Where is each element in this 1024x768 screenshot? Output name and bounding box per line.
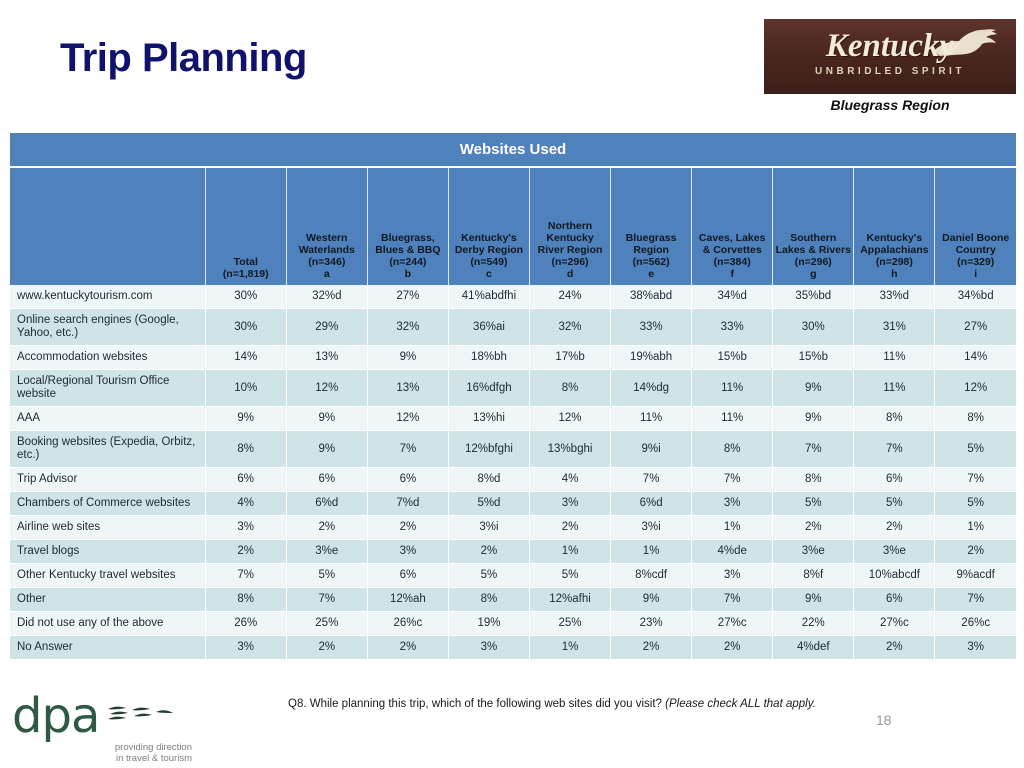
table-cell: 2% [205,540,286,564]
table-cell: 35%bd [773,285,854,309]
table-cell: 26% [205,612,286,636]
column-header-sample-size: (n=1,819) [208,268,284,280]
page-title: Trip Planning [60,36,307,81]
column-header-b: Bluegrass, Blues & BBQ(n=244)b [367,168,448,285]
table-cell: 32% [367,309,448,346]
table-row: Chambers of Commerce websites4%6%d7%d5%d… [10,492,1016,516]
table-cell: 4% [205,492,286,516]
table-cell: 30% [205,285,286,309]
table-cell: 7% [692,588,773,612]
column-header-name: Kentucky's Appalachians [856,232,932,256]
table-cell: 9% [286,407,367,431]
table-row: Airline web sites3%2%2%3%i2%3%i1%2%2%1% [10,516,1016,540]
table-cell: 2% [448,540,529,564]
table-cell: 33% [611,309,692,346]
column-header-e: Bluegrass Region(n=562)e [611,168,692,285]
row-label: Local/Regional Tourism Office website [10,370,205,407]
table-cell: 8% [854,407,935,431]
table-cell: 8% [205,588,286,612]
table-cell: 8%cdf [611,564,692,588]
table-cell: 1% [530,540,611,564]
column-header-f: Caves, Lakes & Corvettes(n=384)f [692,168,773,285]
column-header-name: Southern Lakes & Rivers [775,232,851,256]
table-cell: 12% [286,370,367,407]
table-cell: 5% [448,564,529,588]
table-cell: 6% [367,468,448,492]
row-label: Other Kentucky travel websites [10,564,205,588]
column-header-name: Total [208,256,284,268]
row-label: Trip Advisor [10,468,205,492]
table-cell: 32%d [286,285,367,309]
table-cell: 30% [205,309,286,346]
table-cell: 4%def [773,636,854,660]
table-cell: 11% [611,407,692,431]
column-header-sample-size: (n=296) [532,256,608,268]
table-row: Did not use any of the above26%25%26%c19… [10,612,1016,636]
question-footnote: Q8. While planning this trip, which of t… [288,697,828,712]
table-head: Total(n=1,819)Western Waterlands(n=346)a… [10,168,1016,285]
table-cell: 14% [935,346,1016,370]
table-cell: 8% [692,431,773,468]
table-cell: 12% [530,407,611,431]
column-header-name: Bluegrass Region [613,232,689,256]
table-cell: 7% [935,468,1016,492]
column-header-letter: e [613,268,689,280]
table-cell: 9% [773,370,854,407]
question-text: Q8. While planning this trip, which of t… [288,698,662,710]
table-cell: 6% [205,468,286,492]
table-cell: 4%de [692,540,773,564]
table-cell: 8% [448,588,529,612]
table-row: Local/Regional Tourism Office website10%… [10,370,1016,407]
table-cell: 12%bfghi [448,431,529,468]
dpa-wordmark: dpa [12,688,99,744]
table-cell: 6% [367,564,448,588]
row-label: AAA [10,407,205,431]
table-cell: 7% [854,431,935,468]
column-header-letter: i [937,268,1014,280]
table-cell: 13%hi [448,407,529,431]
table-cell: 26%c [367,612,448,636]
table-cell: 2% [692,636,773,660]
table-cell: 9% [773,407,854,431]
table-cell: 17%b [530,346,611,370]
table-cell: 30% [773,309,854,346]
table-cell: 19%abh [611,346,692,370]
table-cell: 13%bghi [530,431,611,468]
table-cell: 6% [854,468,935,492]
column-header-letter: b [370,268,446,280]
table-cell: 3% [205,516,286,540]
table-banner-title: Websites Used [10,133,1016,168]
table-cell: 5% [773,492,854,516]
table-cell: 2% [611,636,692,660]
table-cell: 9% [205,407,286,431]
table-cell: 27% [935,309,1016,346]
table-cell: 36%ai [448,309,529,346]
table-cell: 3%e [286,540,367,564]
table-cell: 7% [935,588,1016,612]
table-cell: 3% [367,540,448,564]
table-cell: 9% [367,346,448,370]
column-header-letter: f [694,268,770,280]
table-cell: 8%d [448,468,529,492]
table-cell: 31% [854,309,935,346]
table-cell: 4% [530,468,611,492]
table-cell: 41%abdfhi [448,285,529,309]
table-cell: 13% [367,370,448,407]
table-cell: 14%dg [611,370,692,407]
table-cell: 7% [367,431,448,468]
table-cell: 5% [530,564,611,588]
question-instruction: (Please check ALL that apply. [665,698,816,710]
table-cell: 7% [611,468,692,492]
table-cell: 5%d [448,492,529,516]
kentucky-tagline: UNBRIDLED SPIRIT [764,66,1016,77]
column-header-name: Northern Kentucky River Region [532,220,608,256]
column-header-sample-size: (n=329) [937,256,1014,268]
table-cell: 3% [935,636,1016,660]
data-table: Total(n=1,819)Western Waterlands(n=346)a… [10,168,1016,660]
column-header-total: Total(n=1,819) [205,168,286,285]
table-cell: 34%bd [935,285,1016,309]
table-cell: 2% [367,636,448,660]
row-label: Other [10,588,205,612]
table-cell: 14% [205,346,286,370]
column-header-blank [10,168,205,285]
row-label: Online search engines (Google, Yahoo, et… [10,309,205,346]
table-header-row: Total(n=1,819)Western Waterlands(n=346)a… [10,168,1016,285]
table-cell: 7% [692,468,773,492]
column-header-sample-size: (n=298) [856,256,932,268]
column-header-sample-size: (n=244) [370,256,446,268]
table-cell: 24% [530,285,611,309]
column-header-sample-size: (n=562) [613,256,689,268]
table-row: Trip Advisor6%6%6%8%d4%7%7%8%6%7% [10,468,1016,492]
table-cell: 7%d [367,492,448,516]
table-row: Other8%7%12%ah8%12%afhi9%7%9%6%7% [10,588,1016,612]
table-cell: 2% [854,516,935,540]
row-label: www.kentuckytourism.com [10,285,205,309]
row-label: Airline web sites [10,516,205,540]
table-cell: 9% [773,588,854,612]
table-cell: 6%d [286,492,367,516]
table-cell: 27%c [692,612,773,636]
table-cell: 5% [935,492,1016,516]
table-row: Booking websites (Expedia, Orbitz, etc.)… [10,431,1016,468]
table-cell: 10%abcdf [854,564,935,588]
table-cell: 2% [854,636,935,660]
table-cell: 3% [448,636,529,660]
table-cell: 11% [854,346,935,370]
column-header-sample-size: (n=384) [694,256,770,268]
table-cell: 9% [286,431,367,468]
region-label: Bluegrass Region [764,97,1016,113]
table-cell: 13% [286,346,367,370]
flying-birds-icon [106,705,176,731]
row-label: Chambers of Commerce websites [10,492,205,516]
column-header-letter: h [856,268,932,280]
dpa-logo: dpa providing direction in travel & tour… [12,692,192,764]
table-cell: 8% [935,407,1016,431]
dpa-tagline-line1: providing direction [54,742,192,753]
table-cell: 7% [205,564,286,588]
row-label: Did not use any of the above [10,612,205,636]
column-header-sample-size: (n=549) [451,256,527,268]
table-cell: 26%c [935,612,1016,636]
column-header-letter: a [289,268,365,280]
table-body: www.kentuckytourism.com30%32%d27%41%abdf… [10,285,1016,660]
column-header-a: Western Waterlands(n=346)a [286,168,367,285]
table-cell: 2% [935,540,1016,564]
table-row: Accommodation websites14%13%9%18%bh17%b1… [10,346,1016,370]
dpa-tagline: providing direction in travel & tourism [54,742,192,764]
table-cell: 2% [530,516,611,540]
table-cell: 12% [367,407,448,431]
dpa-tagline-line2: in travel & tourism [54,753,192,764]
table-cell: 10% [205,370,286,407]
row-label: No Answer [10,636,205,660]
table-cell: 11% [854,370,935,407]
table-cell: 33% [692,309,773,346]
table-cell: 2% [286,636,367,660]
table-row: Online search engines (Google, Yahoo, et… [10,309,1016,346]
kentucky-logo: Kentucky UNBRIDLED SPIRIT [764,19,1016,94]
table-cell: 25% [530,612,611,636]
column-header-letter: c [451,268,527,280]
table-cell: 9%i [611,431,692,468]
row-label: Booking websites (Expedia, Orbitz, etc.) [10,431,205,468]
column-header-letter: d [532,268,608,280]
page-number: 18 [876,712,892,728]
table-cell: 2% [367,516,448,540]
column-header-d: Northern Kentucky River Region(n=296)d [530,168,611,285]
column-header-sample-size: (n=346) [289,256,365,268]
table-cell: 3%e [854,540,935,564]
table-cell: 12%ah [367,588,448,612]
table-cell: 2% [773,516,854,540]
table-cell: 2% [286,516,367,540]
column-header-name: Kentucky's Derby Region [451,232,527,256]
table-cell: 32% [530,309,611,346]
table-cell: 3% [692,564,773,588]
table-cell: 1% [530,636,611,660]
table-cell: 11% [692,370,773,407]
table-cell: 22% [773,612,854,636]
table-cell: 15%b [692,346,773,370]
table-cell: 19% [448,612,529,636]
table-cell: 7% [773,431,854,468]
row-label: Travel blogs [10,540,205,564]
table-cell: 29% [286,309,367,346]
table-cell: 9% [611,588,692,612]
table-row: Other Kentucky travel websites7%5%6%5%5%… [10,564,1016,588]
table-cell: 15%b [773,346,854,370]
table-cell: 3%i [448,516,529,540]
column-header-i: Daniel Boone Country(n=329)i [935,168,1016,285]
column-header-letter: g [775,268,851,280]
table-cell: 6% [854,588,935,612]
column-header-name: Daniel Boone Country [937,232,1014,256]
table-cell: 1% [935,516,1016,540]
table-cell: 8% [205,431,286,468]
column-header-c: Kentucky's Derby Region(n=549)c [448,168,529,285]
table-cell: 38%abd [611,285,692,309]
table-cell: 9%acdf [935,564,1016,588]
table-cell: 1% [692,516,773,540]
row-label: Accommodation websites [10,346,205,370]
table-cell: 16%dfgh [448,370,529,407]
table-cell: 12%afhi [530,588,611,612]
table-cell: 3% [205,636,286,660]
table-cell: 1% [611,540,692,564]
column-header-g: Southern Lakes & Rivers(n=296)g [773,168,854,285]
table-cell: 18%bh [448,346,529,370]
table-row: www.kentuckytourism.com30%32%d27%41%abdf… [10,285,1016,309]
column-header-name: Bluegrass, Blues & BBQ [370,232,446,256]
table-cell: 8% [773,468,854,492]
table-cell: 5% [854,492,935,516]
table-cell: 3%e [773,540,854,564]
table-row: AAA9%9%12%13%hi12%11%11%9%8%8% [10,407,1016,431]
table-cell: 8% [530,370,611,407]
table-cell: 5% [286,564,367,588]
table-cell: 5% [935,431,1016,468]
table-cell: 3% [530,492,611,516]
table-cell: 27%c [854,612,935,636]
kentucky-brand-block: Kentucky UNBRIDLED SPIRIT Bluegrass Regi… [764,19,1016,113]
table-cell: 6%d [611,492,692,516]
table-cell: 6% [286,468,367,492]
table-cell: 11% [692,407,773,431]
table-cell: 23% [611,612,692,636]
column-header-h: Kentucky's Appalachians(n=298)h [854,168,935,285]
websites-used-table: Websites Used Total(n=1,819)Western Wate… [10,133,1016,660]
table-cell: 12% [935,370,1016,407]
table-cell: 34%d [692,285,773,309]
table-cell: 3% [692,492,773,516]
table-cell: 25% [286,612,367,636]
column-header-sample-size: (n=296) [775,256,851,268]
table-cell: 8%f [773,564,854,588]
table-cell: 33%d [854,285,935,309]
column-header-name: Western Waterlands [289,232,365,256]
table-cell: 7% [286,588,367,612]
column-header-name: Caves, Lakes & Corvettes [694,232,770,256]
table-row: Travel blogs2%3%e3%2%1%1%4%de3%e3%e2% [10,540,1016,564]
table-cell: 3%i [611,516,692,540]
table-cell: 27% [367,285,448,309]
running-horse-icon [930,25,1002,65]
table-row: No Answer3%2%2%3%1%2%2%4%def2%3% [10,636,1016,660]
